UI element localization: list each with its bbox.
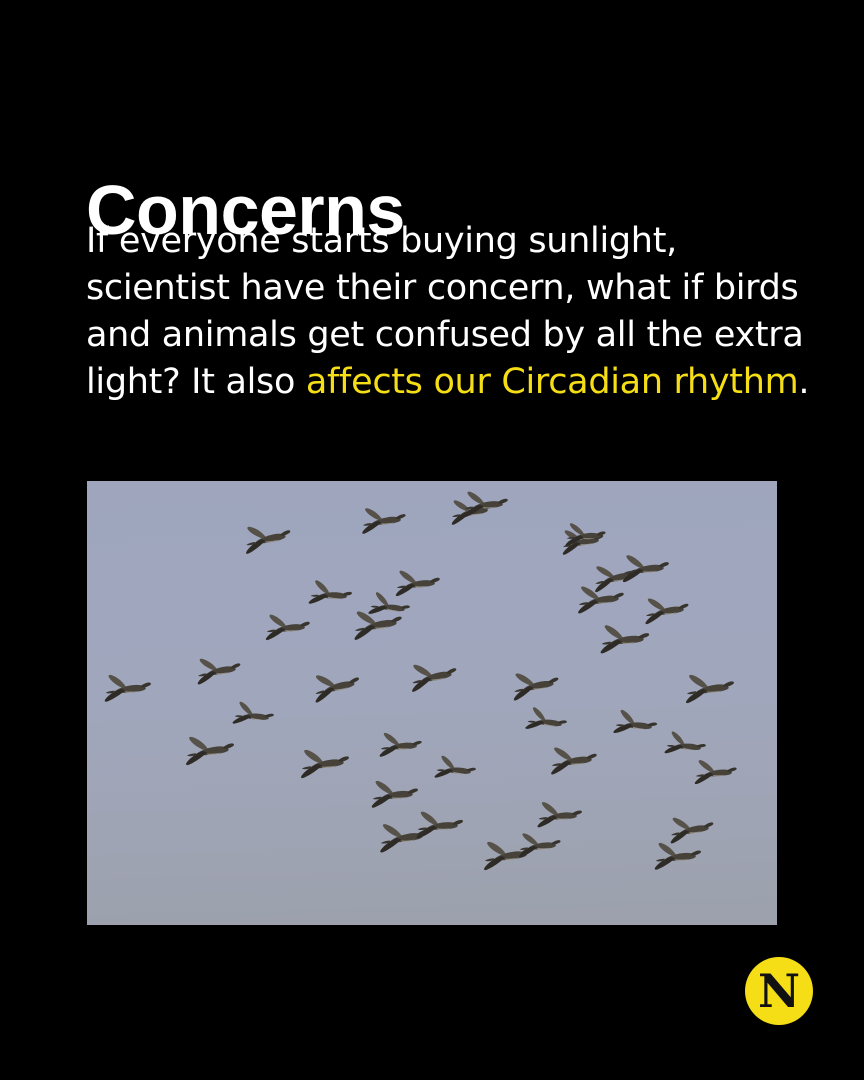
brand-logo-badge[interactable]: N	[745, 957, 813, 1025]
body-line-3: and animals get confused by all the extr…	[86, 312, 786, 359]
body-line-2: scientist have their concern, what if bi…	[86, 265, 786, 312]
birds-photo-canvas	[87, 481, 777, 925]
body-highlight-phrase: affects our Circadian rhythm	[306, 362, 799, 402]
body-paragraph: If everyone starts buying sunlight, scie…	[86, 218, 786, 406]
body-line-4-lead: light? It also	[86, 362, 306, 402]
birds-photo	[87, 481, 777, 925]
brand-initial: N	[745, 957, 813, 1025]
body-line-4: light? It also affects our Circadian rhy…	[86, 359, 786, 406]
body-line-4-tail: .	[798, 362, 809, 402]
infographic-card: Concerns If everyone starts buying sunli…	[0, 0, 864, 1080]
body-line-1: If everyone starts buying sunlight,	[86, 218, 786, 265]
